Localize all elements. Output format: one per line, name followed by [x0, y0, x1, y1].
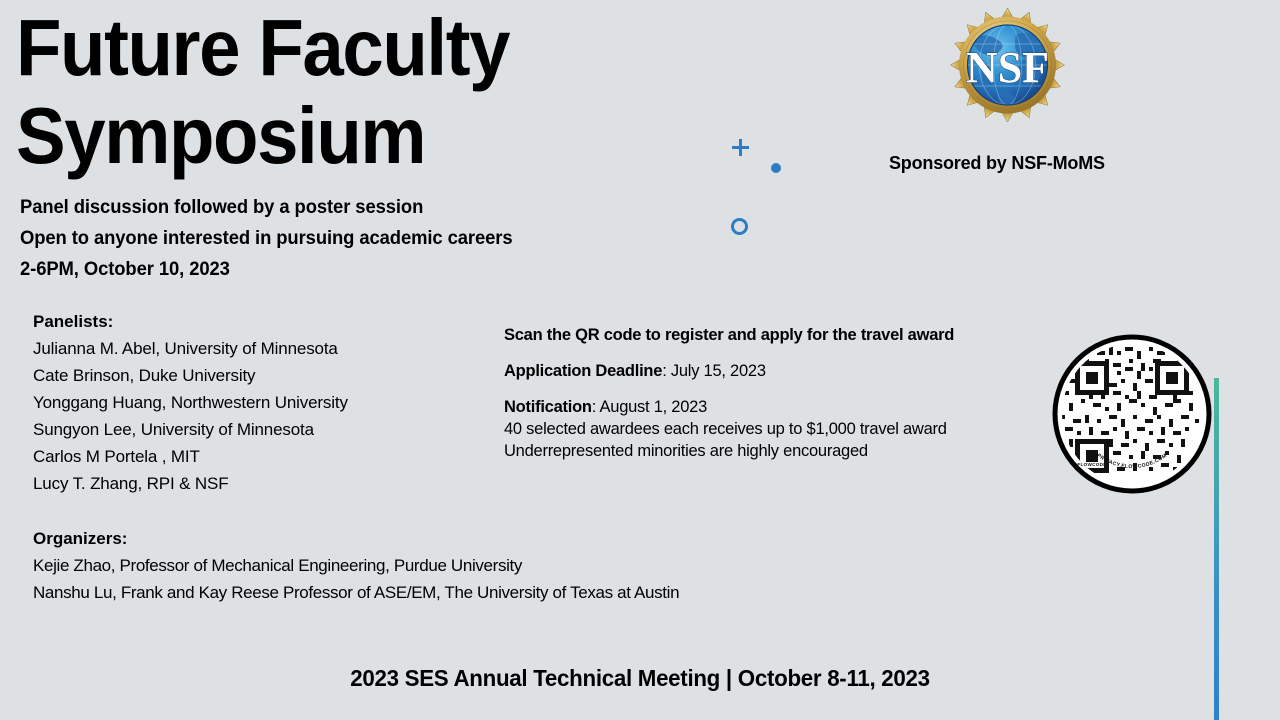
qr-code[interactable]: FLOWCODE PRIVACY.FLOWCODE.COM — [1051, 333, 1213, 495]
nsf-logo: NSF — [944, 4, 1071, 131]
dot-marker-icon — [771, 163, 781, 173]
qr-brand-label: FLOWCODE — [1077, 462, 1106, 467]
plus-marker-icon — [732, 139, 749, 156]
list-item: Lucy T. Zhang, RPI & NSF — [33, 470, 503, 497]
poster-canvas: Future Faculty Symposium Panel discussio… — [0, 0, 1280, 720]
notification-date: Notification: August 1, 2023 — [504, 396, 1064, 418]
notification-value: : August 1, 2023 — [592, 398, 707, 416]
list-item: Yonggang Huang, Northwestern University — [33, 389, 503, 416]
page-title: Future Faculty Symposium — [16, 4, 716, 180]
application-deadline-value: : July 15, 2023 — [662, 362, 766, 380]
organizers-heading: Organizers: — [33, 525, 933, 552]
footer-meeting-info: 2023 SES Annual Technical Meeting | Octo… — [19, 665, 1261, 692]
award-note: 40 selected awardees each receives up to… — [504, 418, 1064, 440]
minorities-note: Underrepresented minorities are highly e… — [504, 440, 1064, 462]
ring-marker-icon — [731, 218, 748, 235]
list-item: Sungyon Lee, University of Minnesota — [33, 416, 503, 443]
application-deadline-label: Application Deadline — [504, 362, 662, 380]
registration-section: Scan the QR code to register and apply f… — [504, 324, 1064, 462]
list-item: Nanshu Lu, Frank and Kay Reese Professor… — [33, 579, 933, 606]
list-item: Julianna M. Abel, University of Minnesot… — [33, 335, 503, 362]
title-line-2: Symposium — [16, 92, 667, 180]
notification-label: Notification — [504, 398, 592, 416]
sponsor-label: Sponsored by NSF-MoMS — [889, 153, 1105, 174]
subtitle-line-datetime: 2-6PM, October 10, 2023 — [20, 254, 718, 285]
title-line-1: Future Faculty — [16, 4, 667, 92]
subtitle-block: Panel discussion followed by a poster se… — [20, 192, 740, 285]
list-item: Kejie Zhao, Professor of Mechanical Engi… — [33, 552, 933, 579]
panelists-heading: Panelists: — [33, 308, 503, 335]
list-item: Cate Brinson, Duke University — [33, 362, 503, 389]
subtitle-line-audience: Open to anyone interested in pursuing ac… — [20, 223, 718, 254]
subtitle-line-description: Panel discussion followed by a poster se… — [20, 192, 718, 223]
organizers-section: Organizers: Kejie Zhao, Professor of Mec… — [33, 525, 933, 606]
panelists-section: Panelists: Julianna M. Abel, University … — [33, 308, 503, 497]
application-deadline: Application Deadline: July 15, 2023 — [504, 360, 1064, 382]
list-item: Carlos M Portela , MIT — [33, 443, 503, 470]
nsf-logo-text: NSF — [966, 43, 1049, 92]
scan-prompt: Scan the QR code to register and apply f… — [504, 324, 1064, 346]
